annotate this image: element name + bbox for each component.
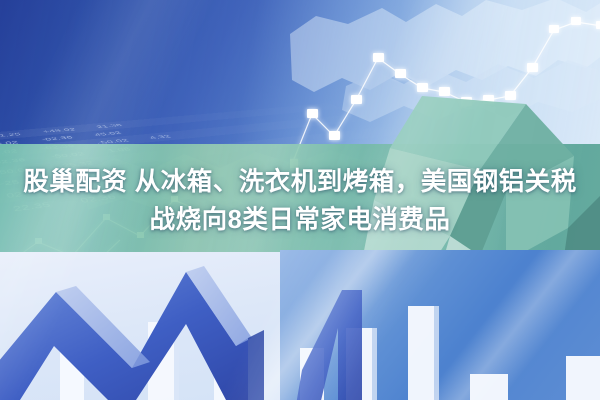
lower-light-field (0, 252, 600, 400)
blue-zigzag-ribbon (0, 250, 410, 400)
headline-line-2: 战烧向8类日常家电消费品 (0, 201, 600, 239)
ticker-row: 2.26-11.25+45.02-02.3645.02 (0, 108, 357, 160)
headline-text: 股巢配资 从冰箱、洗衣机到烤箱，美国钢铝关税 战烧向8类日常家电消费品 (0, 163, 600, 239)
glowing-line-chart (290, 0, 600, 176)
headline-line-1: 股巢配资 从冰箱、洗衣机到烤箱，美国钢铝关税 (0, 163, 600, 201)
blue-wash-light-streak (250, 250, 600, 400)
ticker-row: -05.02-08.35-11.25+45.0221.36 (0, 103, 342, 152)
news-banner-image: -05.02-08.35-11.25+45.0221.36 2.26-11.25… (0, 0, 600, 400)
white-bar-columns (0, 300, 600, 400)
blue-gradient-wash (280, 250, 600, 400)
